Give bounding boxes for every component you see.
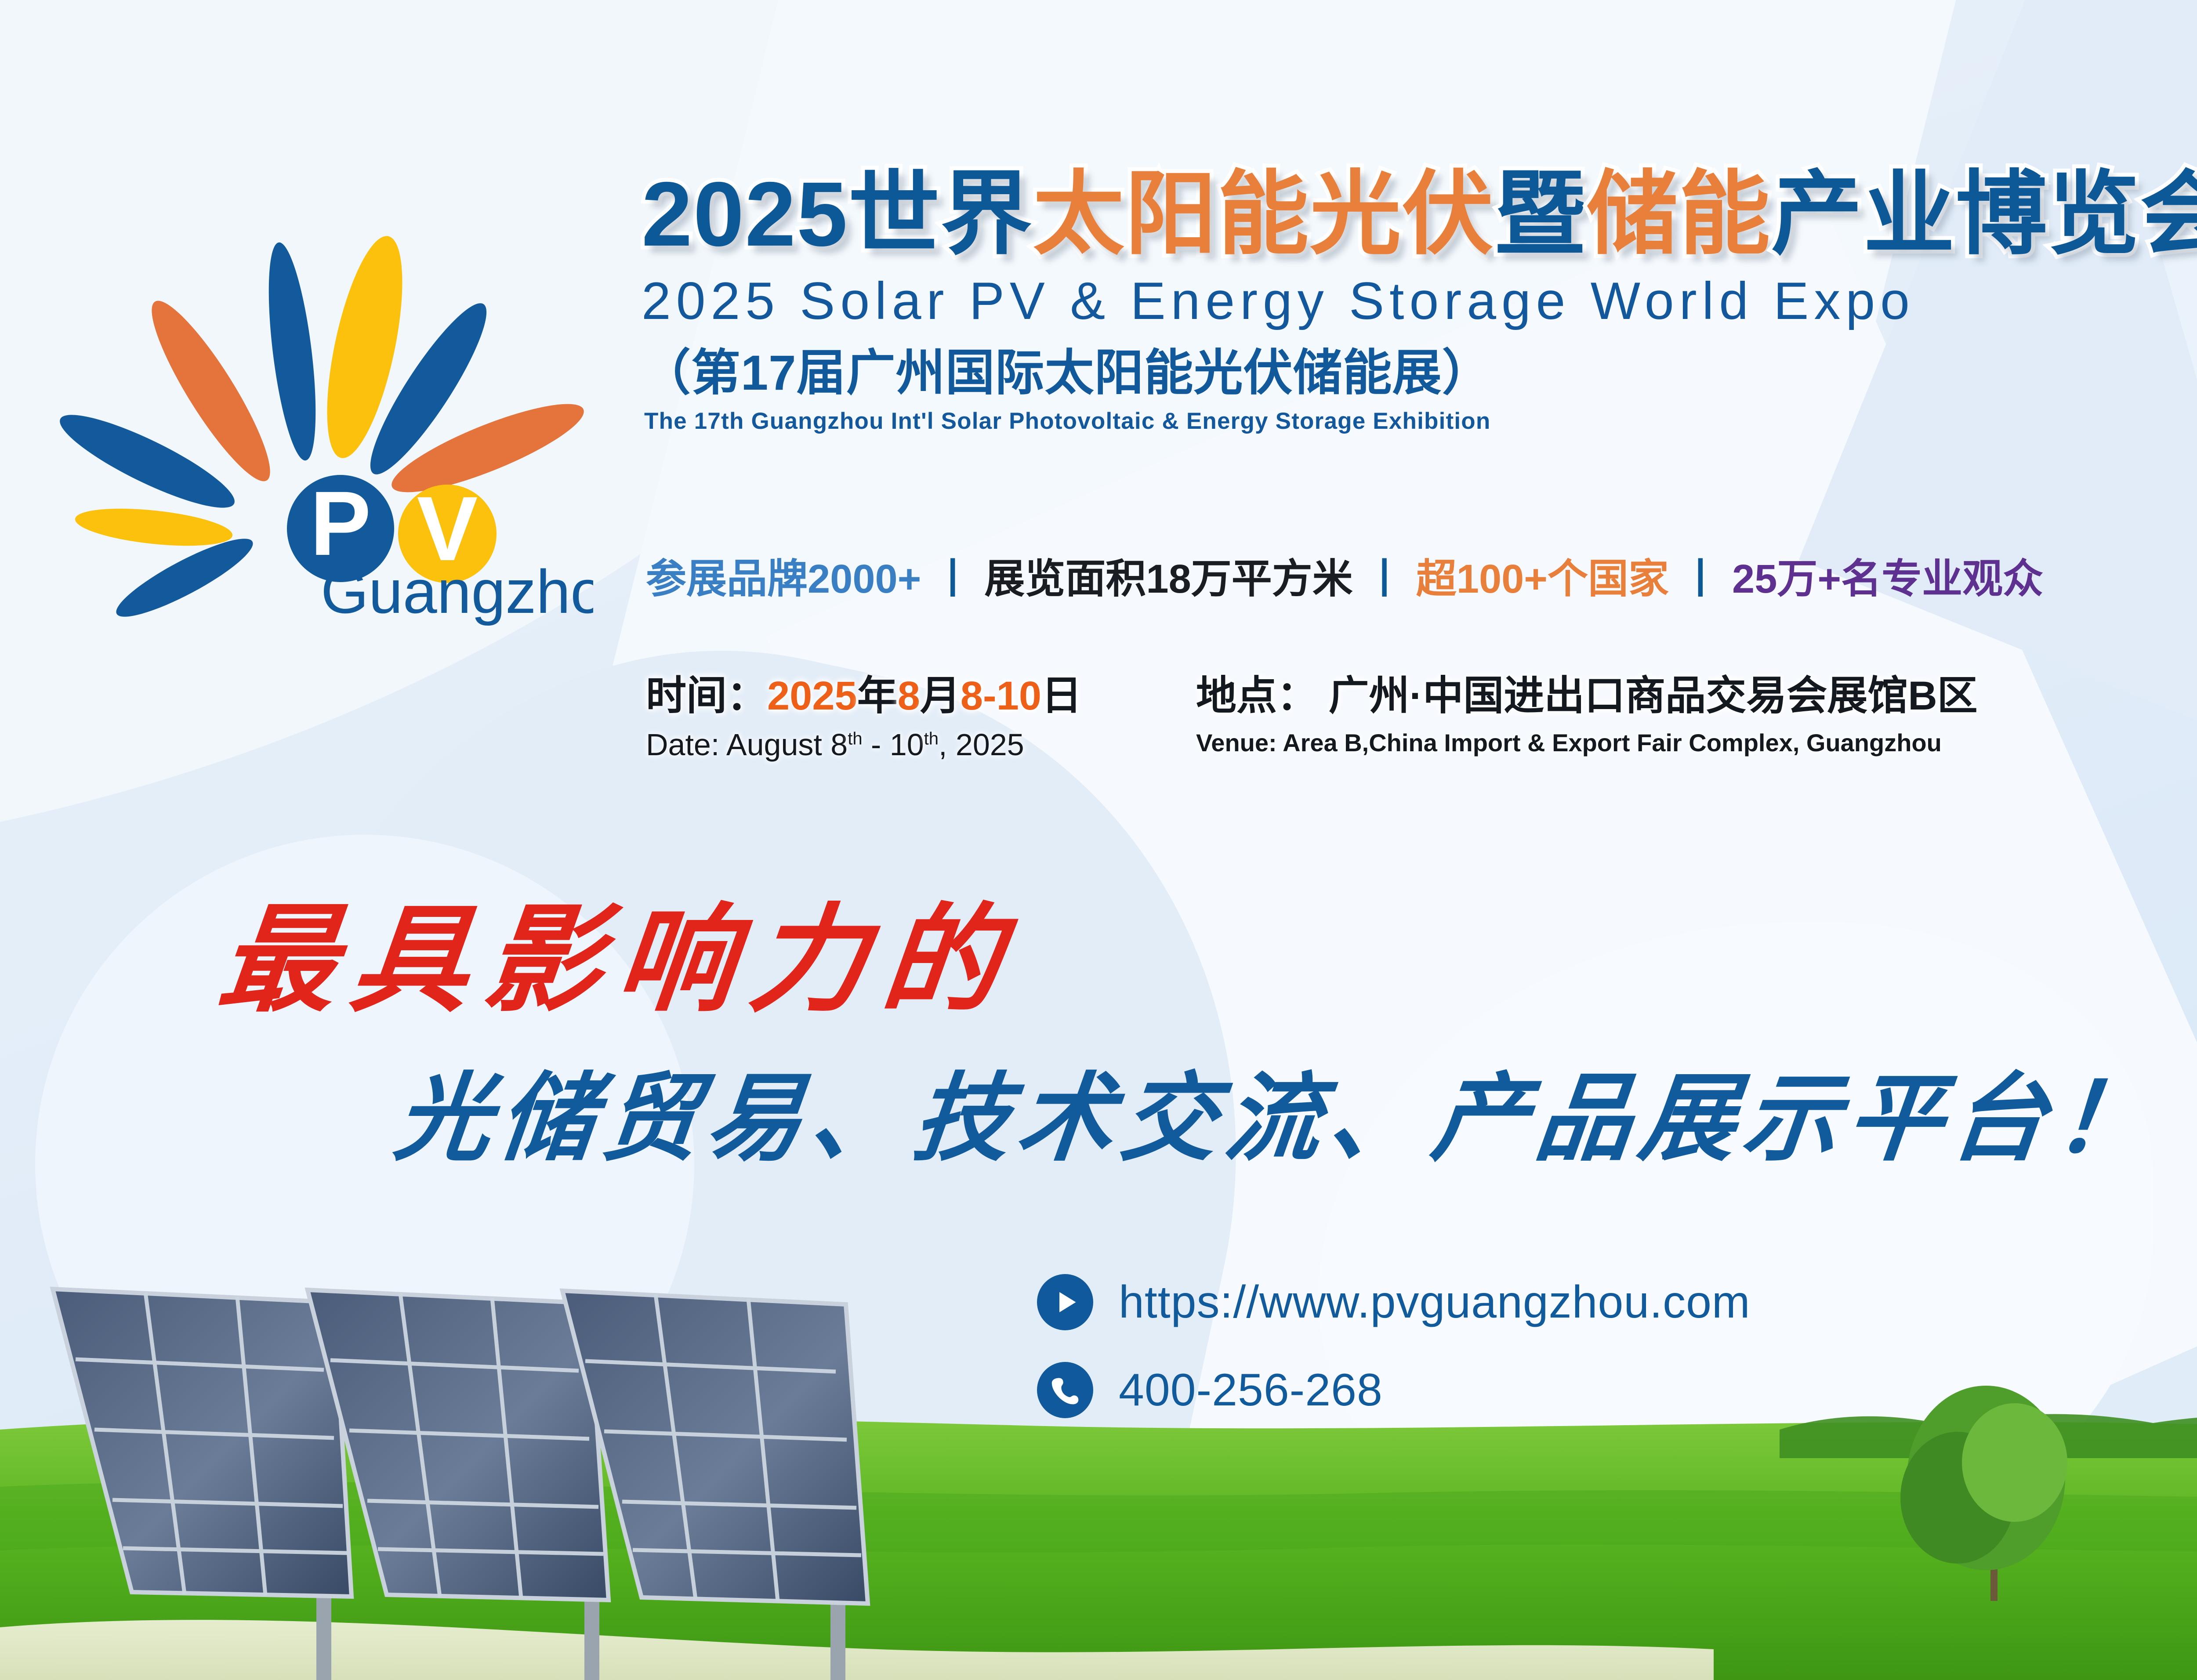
stat-separator-1: 丨: [932, 559, 973, 599]
stats-row: 参展品牌2000+ 丨 展览面积18万平方米 丨 超100+个国家 丨 25万+…: [646, 559, 2043, 599]
landscape-illustration: [0, 1241, 2197, 1680]
stat-brands: 参展品牌2000+: [646, 559, 921, 599]
stat-separator-3: 丨: [1680, 559, 1721, 599]
date-en-dash: -: [863, 728, 890, 762]
date-column: 时间：2025年8月8-10日 Date: August 8th - 10th,…: [646, 672, 1082, 763]
date-days: 8-10: [961, 673, 1041, 718]
stat-countries: 超100+个国家: [1416, 559, 1669, 599]
main-title-cn: 2025世界太阳能光伏暨储能产业博览会: [642, 167, 2197, 262]
date-en-ord2: th: [924, 729, 939, 748]
stat-separator-2: 丨: [1364, 559, 1405, 599]
logo-wordmark: Guangzhou: [321, 557, 593, 626]
stat-area: 展览面积18万平方米: [984, 559, 1352, 599]
date-year: 2025: [767, 673, 857, 718]
slogan-line-1: 最具影响力的: [214, 903, 1022, 1020]
headline-block: 2025世界太阳能光伏暨储能产业博览会 2025 Solar PV & Ener…: [642, 167, 2197, 434]
date-en: Date: August 8th - 10th, 2025: [646, 726, 1082, 763]
pv-guangzhou-logo: P V Guangzhou: [53, 158, 593, 628]
venue-cn: 地点： 广州·中国进出口商品交易会展馆B区: [1196, 672, 1978, 720]
date-label-cn: 时间：: [646, 673, 767, 718]
title-seg-5: 产业博览会: [1771, 163, 2197, 265]
date-month: 8: [898, 673, 920, 718]
title-seg-1: 2025世界: [642, 163, 1033, 265]
date-en-day2: 10: [890, 728, 924, 762]
date-en-prefix: Date: August: [646, 728, 830, 762]
date-en-suffix: , 2025: [939, 728, 1024, 762]
date-en-ord1: th: [848, 729, 862, 748]
title-seg-4: 储能: [1587, 163, 1771, 265]
date-en-day1: 8: [830, 728, 848, 762]
slogan-line-2: 光储贸易、技术交流、产品展示平台！: [391, 1072, 2164, 1168]
date-day-unit: 日: [1041, 673, 1082, 718]
venue-column: 地点： 广州·中国进出口商品交易会展馆B区 Venue: Area B,Chin…: [1196, 672, 1978, 757]
venue-en: Venue: Area B,China Import & Export Fair…: [1196, 728, 1978, 757]
date-month-unit: 月: [920, 673, 961, 718]
subtitle-en: The 17th Guangzhou Int'l Solar Photovolt…: [644, 408, 2197, 434]
main-title-en: 2025 Solar PV & Energy Storage World Exp…: [642, 272, 2197, 330]
date-cn: 时间：2025年8月8-10日: [646, 672, 1082, 720]
date-year-unit: 年: [857, 673, 898, 718]
promo-banner: P V Guangzhou 2025世界太阳能光伏暨储能产业博览会 2025 S…: [0, 0, 2197, 1680]
title-seg-3: 暨: [1494, 163, 1587, 265]
date-venue-block: 时间：2025年8月8-10日 Date: August 8th - 10th,…: [646, 672, 1978, 763]
title-seg-2: 太阳能光伏: [1033, 163, 1494, 265]
subtitle-cn: （第17届广州国际太阳能光伏储能展）: [642, 346, 2197, 400]
stat-visitors: 25万+名专业观众: [1732, 559, 2043, 599]
